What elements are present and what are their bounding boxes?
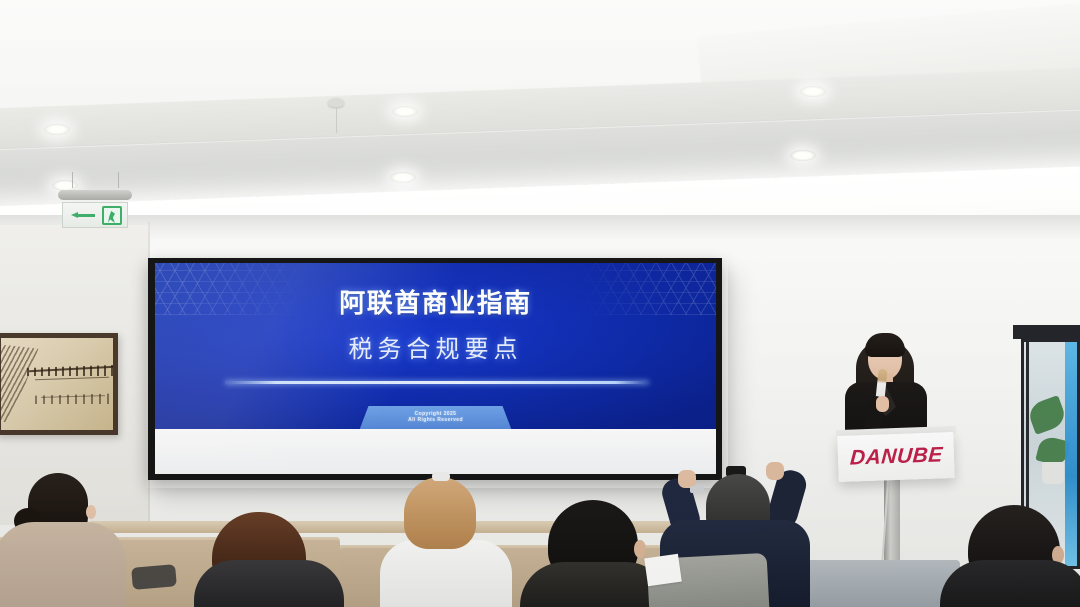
attendee-torso	[380, 540, 512, 607]
danube-logo: DANUBE	[849, 443, 943, 470]
screen-glare	[155, 263, 716, 474]
door-glass-reflection	[1065, 342, 1077, 566]
wall-shadow	[0, 215, 1080, 241]
attendee-hand	[766, 462, 784, 480]
artwork-canvas	[1, 338, 113, 430]
attendee-torso	[0, 522, 126, 607]
paper-sheet	[644, 554, 682, 586]
presentation-screen[interactable]: 阿联酋商业指南 税务合规要点 Copyright 2025 All Rights…	[148, 258, 722, 480]
planter-pot	[1042, 462, 1064, 484]
calligraphy-swirl	[1, 344, 57, 422]
calligraphy-line	[35, 377, 109, 381]
attendee-head	[404, 477, 476, 549]
hair-clip	[432, 472, 450, 481]
attendee-ear	[86, 505, 96, 519]
arabic-calligraphy-artwork	[0, 333, 118, 435]
smoke-detector-icon	[328, 98, 344, 107]
conference-room-photo: 阿联酋商业指南 税务合规要点 Copyright 2025 All Rights…	[0, 0, 1080, 607]
downlight	[800, 86, 826, 97]
exit-sign-wire	[72, 172, 73, 188]
presenter-hand	[876, 396, 889, 412]
running-man-icon	[102, 206, 122, 225]
downlight	[392, 106, 418, 117]
downlight	[390, 172, 416, 183]
bag	[131, 564, 177, 590]
screen-display-area: 阿联酋商业指南 税务合规要点 Copyright 2025 All Rights…	[155, 263, 716, 474]
attendee-torso	[194, 560, 344, 607]
downlight	[44, 124, 70, 135]
attendee-ear	[634, 540, 646, 558]
downlight	[790, 150, 816, 161]
ceiling-hanger	[336, 107, 337, 133]
door-header	[1013, 325, 1080, 339]
lectern-brand-panel: DANUBE	[837, 432, 955, 482]
exit-sign-panel	[62, 202, 128, 228]
presenter-hair-top	[865, 333, 905, 357]
exit-sign-wire	[118, 172, 119, 188]
exit-sign-housing	[58, 190, 132, 200]
plant-icon	[1026, 395, 1068, 435]
wristwatch	[690, 486, 704, 493]
exit-arrow-icon	[71, 212, 95, 219]
exit-sign	[56, 186, 134, 230]
attendee-torso	[940, 560, 1080, 607]
ceiling	[0, 0, 1080, 250]
